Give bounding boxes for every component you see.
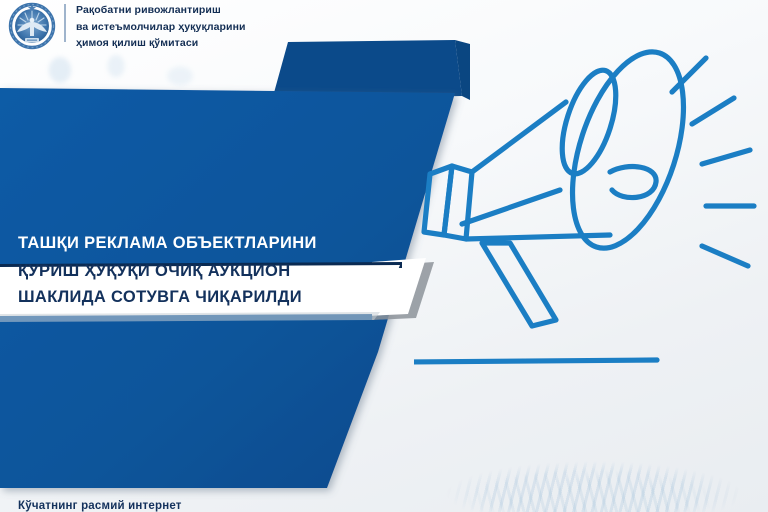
headline-line-1: ТАШҚИ РЕКЛАМА ОБЪЕКТЛАРИНИ <box>18 234 317 253</box>
banner-root: ТАШҚИ РЕКЛАМА ОБЪЕКТЛАРИНИ ҚУРИШ ҲУҚУҚИ … <box>0 0 768 512</box>
header-divider <box>64 4 66 42</box>
headline-line-2: ҚУРИШ ҲУҚУҚИ ОЧИҚ АУКЦИОН <box>18 262 290 281</box>
organization-name-line-2: ва истеъмолчилар ҳуқуқларини <box>76 21 246 34</box>
header-bar: Рақобатни ривожлантириш ва истеъмолчилар… <box>0 0 768 52</box>
organization-name: Рақобатни ривожлантириш ва истеъмолчилар… <box>76 0 246 50</box>
bottom-caption: Кўчатнинг расмий интернет <box>18 500 182 512</box>
organization-name-line-1: Рақобатни ривожлантириш <box>76 4 246 17</box>
organization-name-line-3: ҳимоя қилиш қўмитаси <box>76 37 246 50</box>
headline-block: ТАШҚИ РЕКЛАМА ОБЪЕКТЛАРИНИ ҚУРИШ ҲУҚУҚИ … <box>0 228 470 324</box>
uzbekistan-state-emblem-icon <box>8 2 56 50</box>
headline-line-3: ШАКЛИДА СОТУВГА ЧИҚАРИЛДИ <box>18 288 302 307</box>
